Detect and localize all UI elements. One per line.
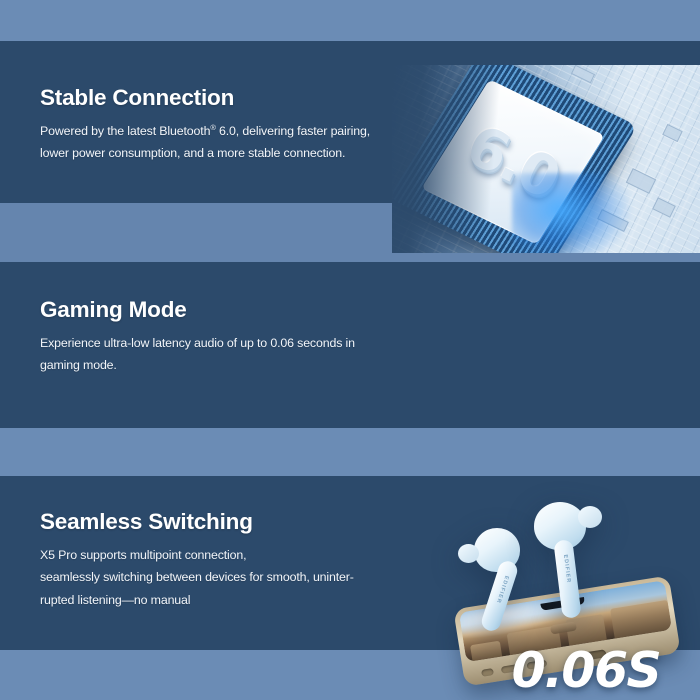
gaming-mode-body: Experience ultra-low latency audio of up…	[40, 332, 355, 377]
body-line: lower power consumption, and a more stab…	[40, 142, 370, 165]
gaming-mode-heading: Gaming Mode	[40, 298, 355, 323]
earbud-left: EDIFIER	[458, 528, 528, 638]
earbud-brand-text: EDIFIER	[494, 575, 509, 604]
seamless-switching-body: X5 Pro supports multipoint connection, s…	[40, 544, 354, 612]
stable-connection-body: Powered by the latest Bluetooth® 6.0, de…	[40, 120, 370, 165]
stable-connection-heading: Stable Connection	[40, 86, 370, 111]
latency-value-label: 0.06S	[466, 642, 700, 699]
section-stable-connection: 6.0 Stable Connection Powered by the lat…	[0, 41, 700, 203]
section-gaming-mode: EDIFIER EDIFIER 0.06S Gaming Mode Experi…	[0, 262, 700, 428]
body-line: X5 Pro supports multipoint connection,	[40, 544, 354, 567]
earbud-brand-text: EDIFIER	[562, 554, 571, 583]
bluetooth-chip-illustration: 6.0	[392, 65, 700, 253]
earbud-right: EDIFIER	[534, 500, 612, 620]
earbuds-phone-latency-illustration: EDIFIER EDIFIER 0.06S	[430, 494, 700, 694]
seamless-switching-copy: Seamless Switching X5 Pro supports multi…	[40, 510, 354, 611]
body-line: Powered by the latest Bluetooth® 6.0, de…	[40, 120, 370, 143]
body-line: rupted listening—no manual	[40, 589, 354, 612]
registered-mark-icon: ®	[210, 123, 215, 132]
band-top-light	[0, 0, 700, 41]
body-line: seamlessly switching between devices for…	[40, 566, 354, 589]
band-divider-2	[0, 428, 700, 476]
body-line: Experience ultra-low latency audio of up…	[40, 332, 355, 355]
stable-connection-copy: Stable Connection Powered by the latest …	[40, 86, 370, 165]
seamless-switching-heading: Seamless Switching	[40, 510, 354, 535]
gaming-mode-copy: Gaming Mode Experience ultra-low latency…	[40, 298, 355, 377]
body-line: gaming mode.	[40, 354, 355, 377]
product-feature-page: 6.0 Stable Connection Powered by the lat…	[0, 0, 700, 700]
